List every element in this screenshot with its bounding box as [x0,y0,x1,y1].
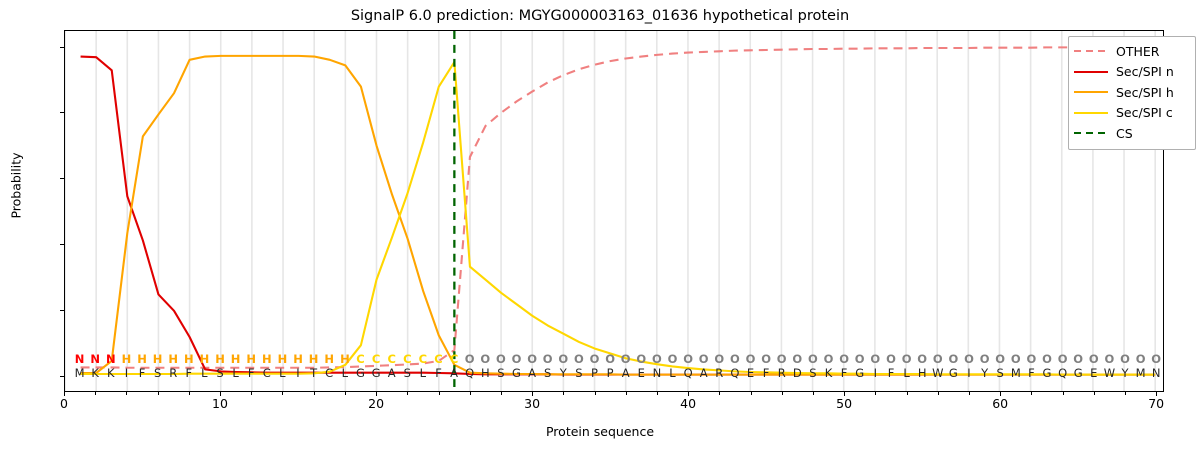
sequence-residue-17: C [321,366,337,380]
sequence-annotation-18: H [337,352,353,366]
sequence-residue-31: S [540,366,556,380]
sequence-annotation-62: O [1023,352,1039,366]
sequence-annotation-3: N [103,352,119,366]
sequence-annotation-21: C [384,352,400,366]
sequence-annotation-30: O [524,352,540,366]
sequence-annotation-1: N [72,352,88,366]
sequence-residue-49: K [821,366,837,380]
sequence-residue-44: E [743,366,759,380]
sequence-annotation-56: O [930,352,946,366]
x-tick-label: 70 [1126,396,1186,411]
sequence-residue-55: H [914,366,930,380]
x-tick-label: 30 [502,396,562,411]
sequence-annotation-32: O [555,352,571,366]
page-title: SignalP 6.0 prediction: MGYG000003163_01… [0,8,1200,24]
sequence-residue-21: A [384,366,400,380]
sequence-annotation-38: O [649,352,665,366]
sequence-residue-43: Q [727,366,743,380]
sequence-annotation-59: O [977,352,993,366]
x-tick-mark [813,392,814,395]
sequence-residue-7: R [165,366,181,380]
x-tick-mark [875,392,876,395]
sequence-annotation-23: C [415,352,431,366]
plot-area [64,30,1164,392]
sequence-annotation-67: O [1101,352,1117,366]
sequence-residue-16: T [306,366,322,380]
sequence-annotation-14: H [274,352,290,366]
sequence-residue-59: Y [977,366,993,380]
sequence-residue-58: I [961,366,977,380]
sequence-residue-35: P [602,366,618,380]
sequence-residue-68: Y [1117,366,1133,380]
sequence-residue-30: A [524,366,540,380]
legend-label: Sec/SPI h [1116,85,1174,100]
sequence-residue-28: S [493,366,509,380]
sequence-residue-20: G [368,366,384,380]
x-tick-mark [158,392,159,395]
sequence-annotation-13: H [259,352,275,366]
sequence-annotation-26: O [462,352,478,366]
sequence-residue-11: L [228,366,244,380]
x-tick-mark [95,392,96,395]
x-tick-mark [345,392,346,395]
sequence-annotation-60: O [992,352,1008,366]
sequence-annotation-37: O [633,352,649,366]
legend-item-sec-spi-c[interactable]: Sec/SPI c [1074,103,1190,124]
sequence-residue-10: S [212,366,228,380]
x-tick-mark [657,392,658,395]
sequence-residue-33: S [571,366,587,380]
legend-label: Sec/SPI n [1116,64,1174,79]
sequence-residue-26: Q [462,366,478,380]
legend-swatch-icon [1074,86,1108,98]
sequence-annotation-45: O [758,352,774,366]
sequence-residue-23: L [415,366,431,380]
sequence-residue-53: F [883,366,899,380]
sequence-residue-19: G [353,366,369,380]
sequence-residue-56: W [930,366,946,380]
sequence-annotation-31: O [540,352,556,366]
sequence-residue-1: M [72,366,88,380]
sequence-annotation-29: O [509,352,525,366]
sequence-residue-65: G [1070,366,1086,380]
sequence-residue-69: M [1133,366,1149,380]
sequence-annotation-27: O [477,352,493,366]
sequence-residue-42: R [711,366,727,380]
x-tick-mark [719,392,720,395]
x-tick-label: 60 [970,396,1030,411]
sequence-annotation-11: H [228,352,244,366]
sequence-annotation-9: H [196,352,212,366]
sequence-annotation-61: O [1008,352,1024,366]
x-tick-mark [1094,392,1095,395]
sequence-annotation-49: O [821,352,837,366]
sequence-annotation-10: H [212,352,228,366]
sequence-residue-14: L [274,366,290,380]
sequence-residue-50: F [836,366,852,380]
sequence-annotation-4: H [118,352,134,366]
sequence-residue-5: F [134,366,150,380]
x-tick-mark [126,392,127,395]
x-tick-mark [751,392,752,395]
x-tick-mark [969,392,970,395]
sequence-annotation-8: H [181,352,197,366]
legend-swatch-icon [1074,127,1108,139]
sequence-residue-60: S [992,366,1008,380]
sequence-annotation-66: O [1086,352,1102,366]
legend-swatch-icon [1074,107,1108,119]
sequence-residue-32: Y [555,366,571,380]
sequence-annotation-52: O [867,352,883,366]
legend: OTHERSec/SPI nSec/SPI hSec/SPI cCS [1068,36,1196,150]
sequence-annotation-68: O [1117,352,1133,366]
sequence-annotation-43: O [727,352,743,366]
sequence-annotation-20: C [368,352,384,366]
sequence-annotation-44: O [743,352,759,366]
sequence-annotation-70: O [1148,352,1164,366]
sequence-residue-2: K [87,366,103,380]
x-tick-mark [938,392,939,395]
sequence-annotation-22: C [399,352,415,366]
x-tick-mark [563,392,564,395]
sequence-annotation-15: H [290,352,306,366]
sequence-residue-37: E [633,366,649,380]
sequence-residue-40: Q [680,366,696,380]
x-tick-mark [1125,392,1126,395]
x-tick-mark [282,392,283,395]
sequence-annotation-64: O [1055,352,1071,366]
x-tick-mark [907,392,908,395]
sequence-residue-3: K [103,366,119,380]
sequence-annotation-25: C [446,352,462,366]
sequence-residue-67: W [1101,366,1117,380]
x-tick-label: 20 [346,396,406,411]
sequence-annotation-57: O [945,352,961,366]
sequence-residue-29: G [509,366,525,380]
sequence-residue-61: M [1008,366,1024,380]
sequence-annotation-34: O [587,352,603,366]
sequence-annotation-19: C [353,352,369,366]
x-tick-mark [1031,392,1032,395]
sequence-residue-66: E [1086,366,1102,380]
x-tick-label: 40 [658,396,718,411]
sequence-residue-41: A [696,366,712,380]
legend-item-cs[interactable]: CS [1074,123,1190,144]
sequence-annotation-42: O [711,352,727,366]
signalp-prediction-figure: SignalP 6.0 prediction: MGYG000003163_01… [0,0,1200,450]
sequence-residue-24: F [431,366,447,380]
sequence-annotation-16: H [306,352,322,366]
sequence-residue-9: L [196,366,212,380]
sequence-residue-18: L [337,366,353,380]
sequence-annotation-6: H [150,352,166,366]
x-tick-mark [595,392,596,395]
sequence-residue-8: F [181,366,197,380]
data-series-layer [65,31,1163,391]
sequence-annotation-5: H [134,352,150,366]
sequence-residue-6: S [150,366,166,380]
legend-swatch-icon [1074,45,1108,57]
legend-label: OTHER [1116,44,1159,59]
sequence-annotation-51: O [852,352,868,366]
sequence-annotation-50: O [836,352,852,366]
x-tick-mark [407,392,408,395]
sequence-annotation-2: N [87,352,103,366]
x-tick-mark [189,392,190,395]
sequence-residue-25: A [446,366,462,380]
x-tick-mark [626,392,627,395]
sequence-residue-51: G [852,366,868,380]
sequence-residue-36: A [618,366,634,380]
sequence-residue-13: C [259,366,275,380]
sequence-residue-4: I [118,366,134,380]
sequence-annotation-55: O [914,352,930,366]
sequence-residue-27: H [477,366,493,380]
sequence-annotation-35: O [602,352,618,366]
legend-label: CS [1116,126,1133,141]
sequence-annotation-40: O [680,352,696,366]
legend-item-sec-spi-n[interactable]: Sec/SPI n [1074,62,1190,83]
sequence-annotation-63: O [1039,352,1055,366]
sequence-annotation-41: O [696,352,712,366]
sequence-annotation-53: O [883,352,899,366]
x-tick-label: 0 [34,396,94,411]
x-tick-mark [314,392,315,395]
x-tick-mark [782,392,783,395]
sequence-annotation-69: O [1133,352,1149,366]
sequence-residue-38: N [649,366,665,380]
sequence-residue-63: G [1039,366,1055,380]
sequence-residue-46: R [774,366,790,380]
sequence-residue-54: L [899,366,915,380]
legend-item-other[interactable]: OTHER [1074,41,1190,62]
sequence-residue-34: P [587,366,603,380]
sequence-residue-39: L [665,366,681,380]
sequence-annotation-33: O [571,352,587,366]
x-tick-mark [1063,392,1064,395]
x-tick-mark [470,392,471,395]
sequence-residue-48: S [805,366,821,380]
sequence-annotation-12: H [243,352,259,366]
sequence-annotation-46: O [774,352,790,366]
sequence-annotation-39: O [665,352,681,366]
sequence-residue-64: Q [1055,366,1071,380]
sequence-residue-15: I [290,366,306,380]
sequence-annotation-36: O [618,352,634,366]
sequence-annotation-65: O [1070,352,1086,366]
legend-swatch-icon [1074,66,1108,78]
x-axis-label: Protein sequence [0,424,1200,439]
sequence-annotation-47: O [789,352,805,366]
sequence-annotation-54: O [899,352,915,366]
sequence-residue-12: F [243,366,259,380]
x-tick-mark [439,392,440,395]
sequence-residue-22: S [399,366,415,380]
legend-item-sec-spi-h[interactable]: Sec/SPI h [1074,82,1190,103]
sequence-residue-52: I [867,366,883,380]
sequence-residue-47: D [789,366,805,380]
legend-label: Sec/SPI c [1116,105,1173,120]
sequence-annotation-58: O [961,352,977,366]
sequence-annotation-7: H [165,352,181,366]
sequence-residue-70: N [1148,366,1164,380]
sequence-annotation-48: O [805,352,821,366]
sequence-annotation-17: H [321,352,337,366]
sequence-residue-62: F [1023,366,1039,380]
sequence-annotation-28: O [493,352,509,366]
y-axis-label: Probability [9,96,24,276]
x-tick-mark [501,392,502,395]
sequence-residue-45: F [758,366,774,380]
x-tick-mark [251,392,252,395]
sequence-residue-57: G [945,366,961,380]
x-tick-label: 10 [190,396,250,411]
x-tick-label: 50 [814,396,874,411]
sequence-annotation-24: C [431,352,447,366]
